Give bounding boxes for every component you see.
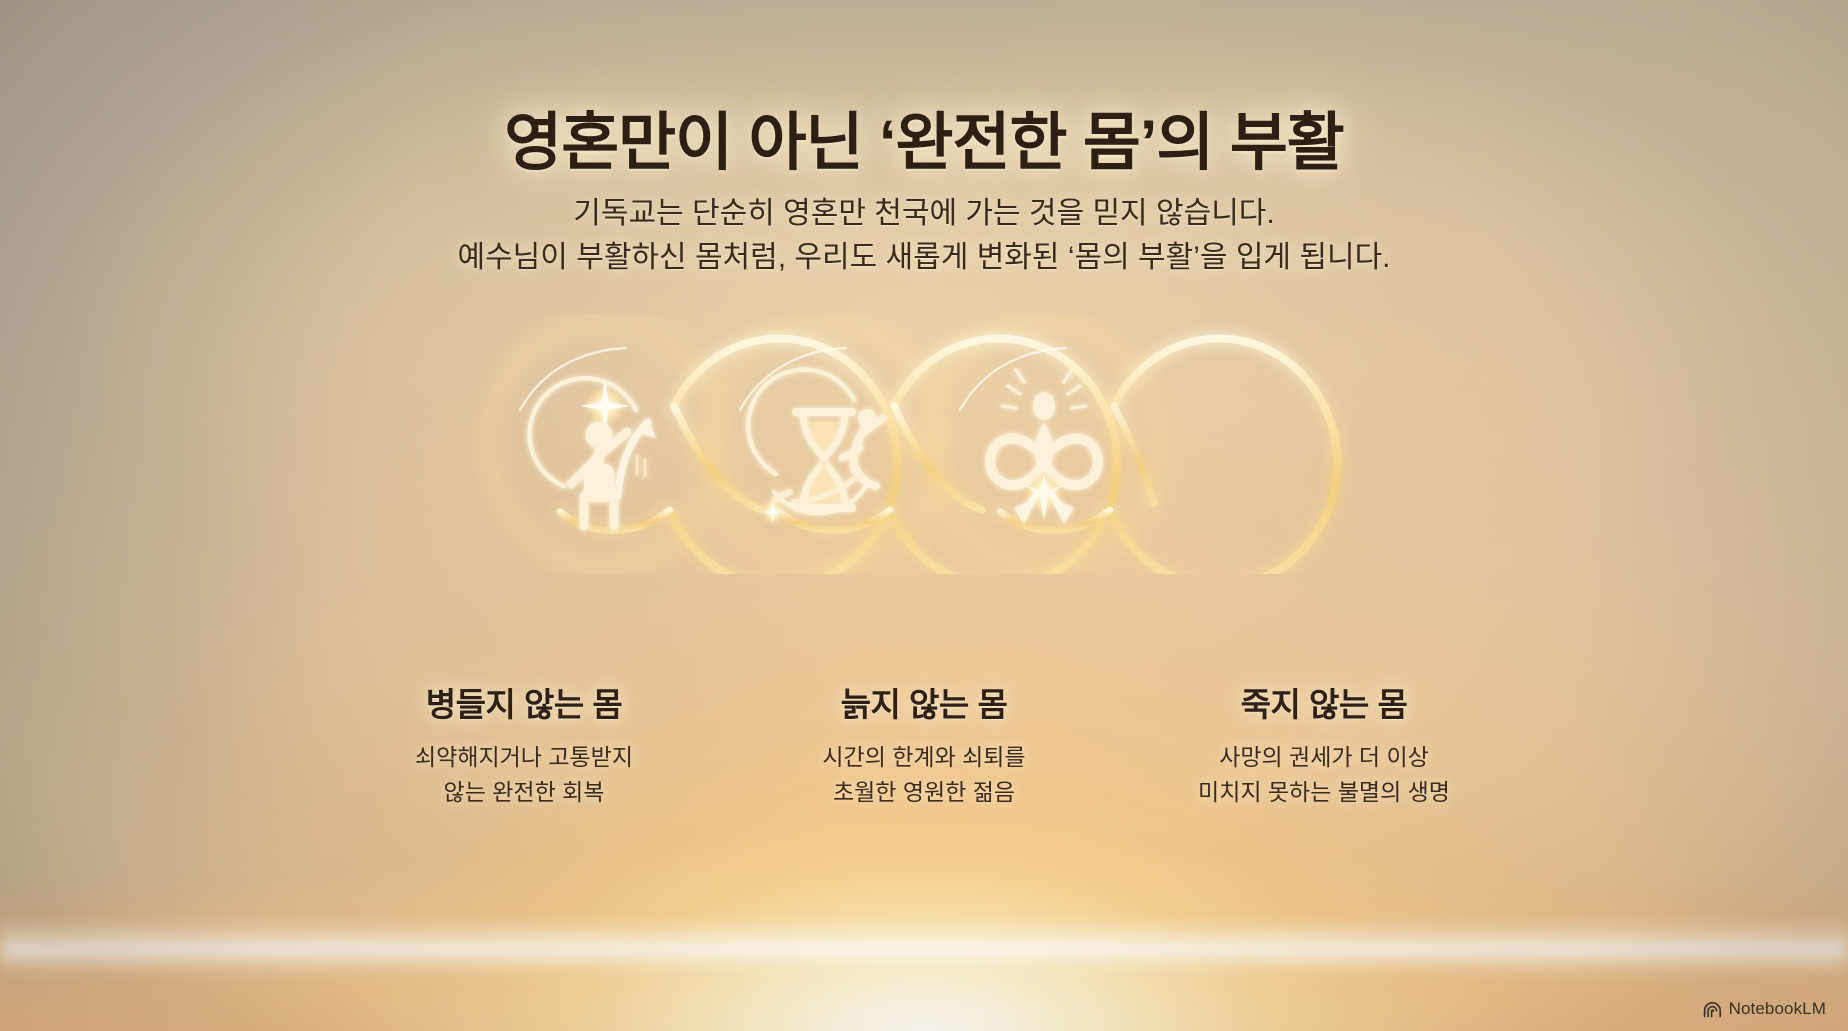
slide-canvas: 영혼만이 아닌 ‘완전한 몸’의 부활 기독교는 단순히 영혼만 천국에 가는 …: [0, 0, 1848, 1031]
infinity-figure-burst-icon: [990, 370, 1098, 524]
page-subtitle: 기독교는 단순히 영혼만 천국에 가는 것을 믿지 않습니다. 예수님이 부활하…: [0, 192, 1848, 280]
card-description: 시간의 한계와 쇠퇴를 초월한 영원한 젊음: [724, 740, 1124, 810]
subtitle-line-2: 예수님이 부활하신 몸처럼, 우리도 새롭게 변화된 ‘몸의 부활’을 입게 됩…: [0, 236, 1848, 280]
notebooklm-watermark: NotebookLM: [1703, 999, 1826, 1019]
card-list: 병들지 않는 몸 쇠약해지거나 고통받지 않는 완전한 회복 늙지 않는 몸 시…: [324, 678, 1524, 858]
card-title: 늙지 않는 몸: [724, 678, 1124, 726]
card-item: 늙지 않는 몸 시간의 한계와 쇠퇴를 초월한 영원한 젊음: [724, 678, 1124, 858]
notebooklm-label: NotebookLM: [1729, 999, 1826, 1019]
notebooklm-spiral-icon: [1703, 1001, 1722, 1018]
card-description: 사망의 권세가 더 이상 미치지 못하는 불멸의 생명: [1124, 740, 1524, 810]
card-title: 죽지 않는 몸: [1124, 678, 1524, 726]
card-description: 쇠약해지거나 고통받지 않는 완전한 회복: [324, 740, 724, 810]
card-description-line-1: 시간의 한계와 쇠퇴를: [724, 740, 1124, 775]
card-item: 죽지 않는 몸 사망의 권세가 더 이상 미치지 못하는 불멸의 생명: [1124, 678, 1524, 858]
three-ring-diagram: [424, 314, 1424, 574]
person-rising-arrow-sparkle-icon: [530, 378, 656, 526]
card-title: 병들지 않는 몸: [324, 678, 724, 726]
card-item: 병들지 않는 몸 쇠약해지거나 고통받지 않는 완전한 회복: [324, 678, 724, 858]
card-description-line-2: 미치지 못하는 불멸의 생명: [1124, 775, 1524, 810]
card-description-line-1: 사망의 권세가 더 이상: [1124, 740, 1524, 775]
hourglass-figure-icon: [748, 370, 883, 524]
page-title: 영혼만이 아닌 ‘완전한 몸’의 부활: [0, 92, 1848, 183]
subtitle-line-1: 기독교는 단순히 영혼만 천국에 가는 것을 믿지 않습니다.: [0, 192, 1848, 236]
card-description-line-2: 초월한 영원한 젊음: [724, 775, 1124, 810]
card-description-line-2: 않는 완전한 회복: [324, 775, 724, 810]
card-description-line-1: 쇠약해지거나 고통받지: [324, 740, 724, 775]
